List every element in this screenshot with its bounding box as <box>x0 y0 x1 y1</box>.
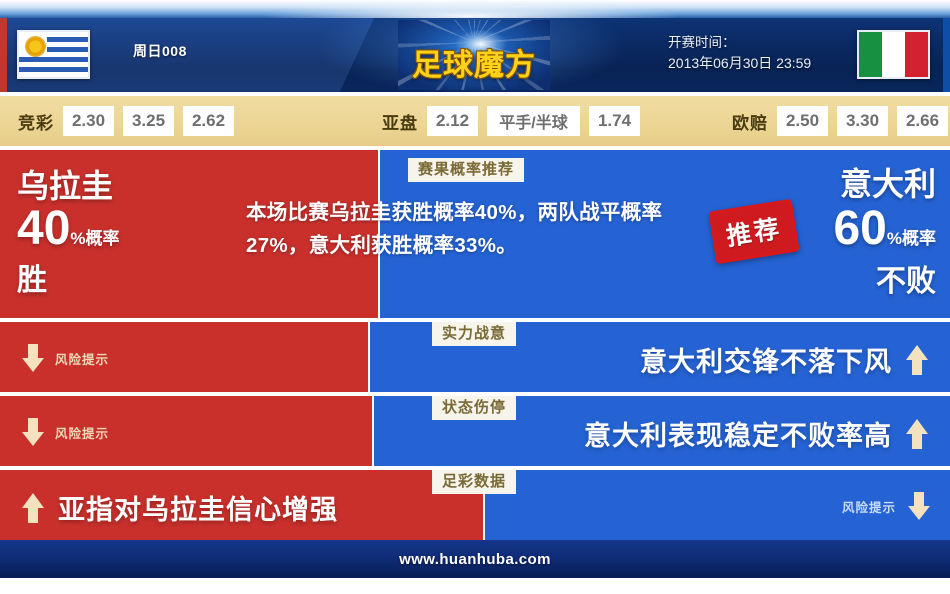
home-team-percent: 40%概率 <box>17 204 120 264</box>
infographic-root: 周日008 足球魔方 开赛时间： 2013年06月30日 23:59 竞彩 2.… <box>0 0 950 594</box>
home-result-label: 胜 <box>17 264 120 298</box>
section-tag-betting: 足彩数据 <box>432 470 516 494</box>
row-left-headline: 亚指对乌拉圭信心增强 <box>22 488 338 527</box>
risk-note-text: 风险提示 <box>842 497 896 516</box>
home-percent-unit: %概率 <box>70 229 119 248</box>
section-tag-probability: 赛果概率推荐 <box>408 158 524 182</box>
match-number: 周日008 <box>133 41 187 61</box>
kickoff-time: 2013年06月30日 23:59 <box>668 53 811 74</box>
analysis-row-form: 状态伤停 风险提示 意大利表现稳定不败率高 <box>0 396 950 466</box>
odds-bar: 竞彩 2.30 3.25 2.62 亚盘 2.12 平手/半球 1.74 欧赔 … <box>0 96 950 146</box>
row-right-headline: 意大利表现稳定不败率高 <box>584 414 928 453</box>
away-team-block: 意大利 60%概率 不败 <box>833 165 936 299</box>
odds-value: 3.25 <box>123 106 174 136</box>
site-url: www.huanhuba.com <box>399 551 551 568</box>
odds-value: 2.50 <box>777 106 828 136</box>
site-logo-text: 足球魔方 <box>398 40 550 84</box>
odds-group-yapan: 亚盘 2.12 平手/半球 1.74 <box>382 106 640 136</box>
header-right-accent <box>943 18 950 92</box>
home-team-block: 乌拉圭 40%概率 胜 <box>17 168 120 298</box>
arrow-up-icon <box>22 493 44 523</box>
away-result-label: 不败 <box>833 265 936 299</box>
odds-value: 1.74 <box>589 106 640 136</box>
odds-value: 2.12 <box>427 106 478 136</box>
risk-note-text: 风险提示 <box>55 423 109 442</box>
row-right-risk-note: 风险提示 <box>842 492 930 520</box>
probability-summary: 本场比赛乌拉圭获胜概率40%，两队战平概率27%，意大利获胜概率33%。 <box>246 196 678 262</box>
arrow-down-icon <box>908 492 930 520</box>
section-tag-strength: 实力战意 <box>432 322 516 346</box>
headline-text: 意大利表现稳定不败率高 <box>584 414 892 453</box>
row-right-headline: 意大利交锋不落下风 <box>640 340 928 379</box>
odds-value: 2.62 <box>183 106 234 136</box>
risk-note-text: 风险提示 <box>55 349 109 368</box>
arrow-up-icon <box>906 345 928 375</box>
home-team-name: 乌拉圭 <box>17 168 120 204</box>
away-team-percent: 60%概率 <box>833 203 936 265</box>
odds-handicap: 平手/半球 <box>487 106 580 136</box>
uruguay-flag-icon <box>17 30 90 79</box>
headline-text: 亚指对乌拉圭信心增强 <box>58 488 338 527</box>
away-team-name: 意大利 <box>833 165 936 203</box>
italy-flag-icon <box>857 30 930 79</box>
footer-bar: www.huanhuba.com <box>0 540 950 578</box>
kickoff-info: 开赛时间： 2013年06月30日 23:59 <box>668 32 811 74</box>
analysis-row-betting: 足彩数据 亚指对乌拉圭信心增强 风险提示 <box>0 470 950 540</box>
site-logo: 足球魔方 <box>398 20 550 90</box>
away-percent-value: 60 <box>833 202 886 255</box>
header-top-glow <box>0 0 950 18</box>
odds-value: 2.66 <box>897 106 948 136</box>
header-left-accent <box>0 18 7 92</box>
row-left-risk-note: 风险提示 <box>22 418 109 446</box>
odds-label: 亚盘 <box>382 109 418 134</box>
odds-label: 竞彩 <box>18 109 54 134</box>
odds-label: 欧赔 <box>732 109 768 134</box>
recommend-stamp-text: 推荐 <box>723 209 784 253</box>
odds-group-oupei: 欧赔 2.50 3.30 2.66 <box>732 106 948 136</box>
odds-value: 2.30 <box>63 106 114 136</box>
bottom-white-band <box>0 578 950 594</box>
row-left-risk-note: 风险提示 <box>22 344 109 372</box>
arrow-down-icon <box>22 344 44 372</box>
odds-value: 3.30 <box>837 106 888 136</box>
section-tag-form: 状态伤停 <box>432 396 516 420</box>
headline-text: 意大利交锋不落下风 <box>640 340 892 379</box>
kickoff-label: 开赛时间： <box>668 32 811 53</box>
analysis-row-strength: 实力战意 风险提示 意大利交锋不落下风 <box>0 322 950 392</box>
away-percent-unit: %概率 <box>887 229 936 248</box>
home-percent-value: 40 <box>17 202 70 255</box>
arrow-down-icon <box>22 418 44 446</box>
odds-group-jingcai: 竞彩 2.30 3.25 2.62 <box>18 106 234 136</box>
arrow-up-icon <box>906 419 928 449</box>
